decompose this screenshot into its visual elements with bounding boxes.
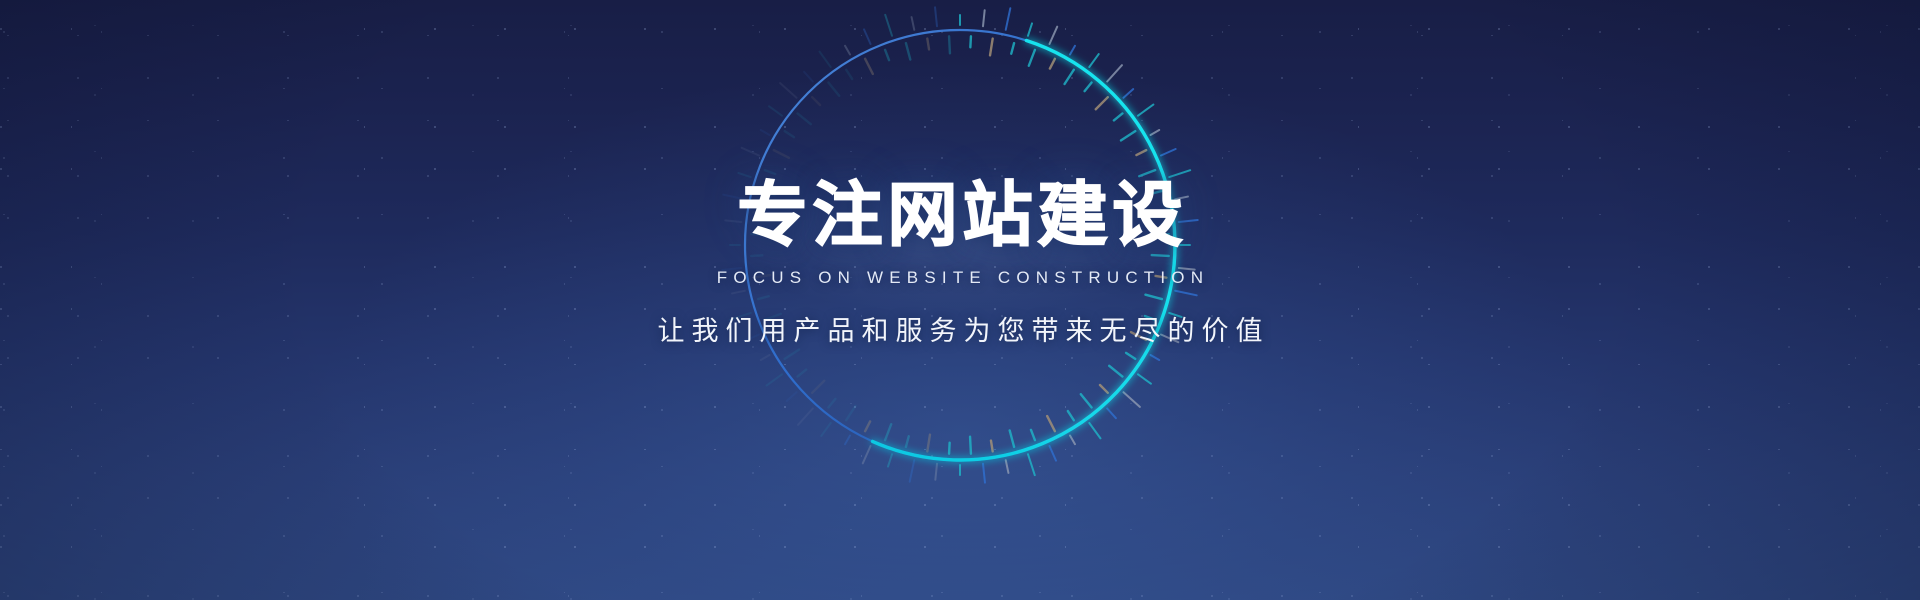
page-title: 专注网站建设 [0, 178, 1920, 252]
hero-banner: 专注网站建设 FOCUS ON WEBSITE CONSTRUCTION 让我们… [0, 0, 1920, 600]
headline-subtitle-english: FOCUS ON WEBSITE CONSTRUCTION [0, 268, 1920, 288]
headline-tagline: 让我们用产品和服务为您带来无尽的价值 [0, 309, 1920, 348]
hero-copy: 专注网站建设 FOCUS ON WEBSITE CONSTRUCTION 让我们… [0, 178, 1920, 348]
